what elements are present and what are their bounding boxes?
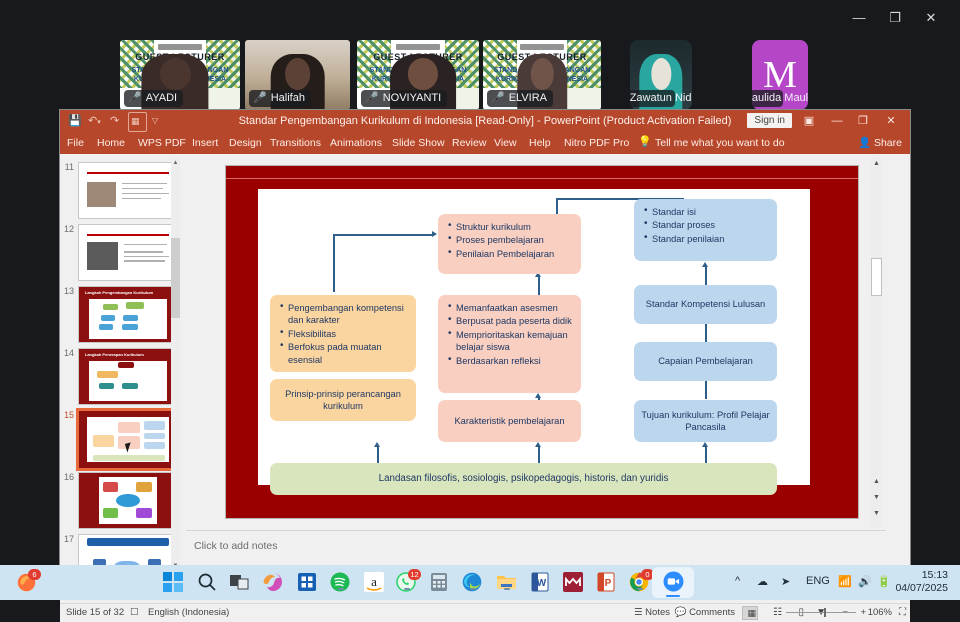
spotify-icon[interactable] bbox=[330, 572, 351, 593]
ribbon-tab-file[interactable]: File bbox=[67, 136, 84, 150]
window-close-button[interactable]: ✕ bbox=[916, 6, 946, 30]
ribbon-tab-nitro-pdf-pro[interactable]: Nitro PDF Pro bbox=[564, 136, 629, 150]
participant-name-badge: 🎤 ELVIRA bbox=[487, 90, 553, 107]
thumbnail-node bbox=[93, 435, 115, 448]
muted-microphone-icon: 🎤 bbox=[128, 91, 142, 106]
mendeley-icon[interactable] bbox=[563, 572, 584, 593]
calculator-icon[interactable] bbox=[429, 572, 450, 593]
thumbnail-text-line bbox=[124, 251, 163, 253]
thumbnail-node bbox=[118, 422, 140, 432]
powerpoint-status-bar: Slide 15 of 32 ☐ English (Indonesia) ☰ N… bbox=[60, 603, 910, 622]
lightbulb-icon: 💡 bbox=[638, 135, 652, 148]
slide-thumbnail[interactable] bbox=[78, 224, 178, 281]
accessibility-icon[interactable]: ☐ bbox=[130, 607, 139, 619]
node-struktur-kurikulum[interactable]: Struktur kurikulum Proses pembelajaran P… bbox=[438, 214, 581, 274]
comment-bubble-icon: 💬 bbox=[675, 607, 687, 618]
node-label: Karakteristik pembelajaran bbox=[454, 415, 564, 427]
institution-logo bbox=[158, 44, 202, 50]
zoom-out-button[interactable]: − bbox=[842, 606, 848, 620]
participant-name-badge: 🎤 Maulida Maulida bbox=[752, 90, 783, 107]
participant-face bbox=[531, 58, 554, 89]
participant-name-badge: 🎤 Halifah bbox=[249, 90, 311, 107]
onedrive-icon[interactable]: ☁ bbox=[757, 575, 768, 588]
volume-icon[interactable]: 🔊 bbox=[858, 575, 872, 588]
language-indicator[interactable]: ENG bbox=[806, 575, 830, 587]
thumbnail-row[interactable]: 15 bbox=[60, 408, 182, 469]
share-label: Share bbox=[874, 137, 902, 149]
node-bullet: Penilaian Pembelajaran bbox=[456, 248, 573, 260]
participant-face bbox=[408, 58, 438, 89]
connector-arrow bbox=[705, 447, 707, 463]
node-pengembangan-kompetensi[interactable]: Pengembangan kompetensi dan karakter Fle… bbox=[270, 295, 416, 372]
powerpoint-close-button[interactable]: ✕ bbox=[878, 112, 904, 130]
thumbnail-title: Langkah Pengembangan Kurikulum bbox=[85, 290, 153, 295]
connector-arrow bbox=[377, 447, 379, 463]
muted-microphone-icon: 🎤 bbox=[253, 91, 267, 106]
window-minimize-button[interactable]: — bbox=[844, 6, 874, 30]
scroll-up-arrow-icon[interactable]: ▲ bbox=[871, 158, 882, 170]
thumbnail-number: 12 bbox=[62, 224, 74, 234]
language-indicator[interactable]: English (Indonesia) bbox=[148, 607, 229, 619]
notification-badge: 6 bbox=[28, 569, 41, 580]
participant-name: Zawatun Nida bbox=[630, 91, 692, 106]
thumbnail-accent-bar bbox=[87, 172, 169, 174]
thumbnail-scrollbar-thumb[interactable] bbox=[171, 238, 180, 318]
thumbnail-text-line bbox=[122, 188, 163, 190]
thumbnail-row[interactable]: 13 Langkah Pengembangan Kurikulum bbox=[60, 284, 182, 345]
next-slide-icon[interactable]: ▼ bbox=[871, 492, 882, 504]
participant-tile[interactable]: M 🎤 Maulida Maulida bbox=[752, 40, 808, 110]
wifi-icon[interactable]: 📶 bbox=[838, 575, 852, 588]
svg-text:a: a bbox=[371, 574, 377, 589]
slide-thumbnail[interactable] bbox=[78, 472, 178, 529]
zoom-app-button[interactable] bbox=[652, 567, 694, 598]
connector-arrow bbox=[333, 234, 335, 292]
powerpoint-title-bar: 💾 ↶▾ ↷ ▦ ▽ Standar Pengembangan Kurikulu… bbox=[60, 110, 910, 132]
comments-label: Comments bbox=[689, 607, 735, 618]
institution-logo bbox=[396, 44, 440, 50]
notes-icon: ☰ bbox=[634, 607, 643, 618]
institution-logo bbox=[520, 44, 564, 50]
running-indicator bbox=[470, 588, 476, 590]
thumbnail-photo bbox=[87, 182, 116, 207]
thumbnail-text-line bbox=[124, 244, 167, 246]
zoom-title-bar: — ❐ ✕ bbox=[0, 0, 960, 36]
amazon-icon[interactable]: a bbox=[364, 572, 385, 593]
slide-editing-area: Standar isi Standar proses Standar penil… bbox=[186, 156, 886, 526]
connector-arrow bbox=[705, 381, 707, 399]
ribbon-display-options-button[interactable]: ▣ bbox=[796, 112, 822, 130]
copilot-icon[interactable] bbox=[263, 572, 284, 593]
participant-tile[interactable]: GUEST LECTURER STANDAR PENGEMBANGAN KURI… bbox=[357, 40, 479, 110]
connector-arrow bbox=[705, 324, 707, 342]
slide-sorter-button[interactable]: ☷ bbox=[773, 606, 782, 620]
connector-arrow bbox=[538, 277, 540, 295]
muted-microphone-icon: 🎤 bbox=[365, 91, 379, 106]
thumbnail-number: 14 bbox=[62, 348, 74, 358]
thumbnail-node bbox=[136, 482, 152, 492]
slide-content-canvas: Standar isi Standar proses Standar penil… bbox=[258, 189, 810, 485]
slide-scrollbar[interactable]: ▲ ▲ ▼ ▼ bbox=[871, 158, 882, 528]
powerpoint-minimize-button[interactable]: — bbox=[824, 112, 850, 130]
slide-scrollbar-thumb[interactable] bbox=[871, 258, 882, 296]
ribbon-tab-transitions[interactable]: Transitions bbox=[270, 136, 321, 150]
connector-arrow bbox=[333, 234, 433, 236]
share-button[interactable]: 👤 Share bbox=[858, 136, 902, 150]
scroll-up-arrow-icon[interactable]: ▲ bbox=[171, 158, 180, 169]
node-bullet: Memprioritaskan kemajuan belajar siswa bbox=[456, 329, 573, 354]
thumbnail-node bbox=[103, 482, 119, 492]
arrowhead-icon bbox=[535, 393, 541, 398]
participant-name: Halifah bbox=[271, 91, 305, 106]
zoom-level[interactable]: 106% bbox=[868, 607, 892, 619]
participant-name: NOVIYANTI bbox=[383, 91, 441, 106]
thumbnail-node bbox=[144, 433, 166, 440]
ribbon-tab-insert[interactable]: Insert bbox=[192, 136, 218, 150]
connector-arrow bbox=[538, 447, 540, 463]
arrowhead-icon bbox=[535, 442, 541, 447]
participant-tile[interactable]: 🎤 Zawatun Nida bbox=[630, 40, 692, 110]
thumbnail-node bbox=[103, 304, 119, 311]
participant-name: ELVIRA bbox=[509, 91, 547, 106]
normal-view-icon: ▦ bbox=[747, 606, 756, 620]
running-indicator bbox=[338, 588, 344, 590]
node-label: Tujuan kurikulum: Profil Pelajar Pancasi… bbox=[640, 409, 771, 434]
thumbnail-text-line bbox=[124, 256, 169, 258]
reading-view-button[interactable]: ▯ bbox=[798, 606, 804, 620]
firefox-icon[interactable]: 6 bbox=[16, 572, 37, 593]
ribbon-tab-home[interactable]: Home bbox=[97, 136, 125, 150]
slide-counter[interactable]: Slide 15 of 32 bbox=[66, 607, 124, 619]
muted-microphone-icon: 🎤 bbox=[491, 91, 505, 106]
running-indicator bbox=[504, 588, 510, 590]
thumbnail-text-line bbox=[122, 198, 161, 200]
thumbnail-text-line bbox=[122, 193, 169, 195]
arrowhead-icon bbox=[374, 442, 380, 447]
arrowhead-icon bbox=[702, 442, 708, 447]
window-maximize-button[interactable]: ❐ bbox=[880, 6, 910, 30]
node-landasan[interactable]: Landasan filosofis, sosiologis, psikoped… bbox=[270, 463, 777, 495]
file-explorer-icon[interactable] bbox=[496, 572, 517, 593]
arrowhead-icon bbox=[702, 262, 708, 267]
thumbnail-row[interactable]: 14 Langkah Penerapan Kurikulum bbox=[60, 346, 182, 407]
participant-face bbox=[160, 58, 191, 89]
notes-button[interactable]: ☰ Notes bbox=[634, 606, 670, 620]
node-bullet: Berdasarkan refleksi bbox=[456, 355, 573, 367]
node-tujuan-kurikulum[interactable]: Tujuan kurikulum: Profil Pelajar Pancasi… bbox=[634, 400, 777, 442]
thumbnail-number: 17 bbox=[62, 534, 74, 544]
powerpoint-window: 💾 ↶▾ ↷ ▦ ▽ Standar Pengembangan Kurikulu… bbox=[60, 110, 910, 566]
node-standar-kompetensi-lulusan[interactable]: Standar Kompetensi Lulusan bbox=[634, 285, 777, 324]
sign-in-button[interactable]: Sign in bbox=[747, 113, 792, 128]
task-view-icon[interactable] bbox=[229, 572, 250, 593]
participant-filmstrip: GUEST LECTURER STANDAR PENGEMBANGAN KURI… bbox=[0, 40, 960, 112]
thumbnail-node bbox=[97, 371, 119, 378]
thumbnail-node bbox=[93, 455, 166, 461]
comments-button[interactable]: 💬 Comments bbox=[675, 606, 735, 620]
svg-text:P: P bbox=[605, 578, 612, 589]
ribbon-tab-slide-show[interactable]: Slide Show bbox=[392, 136, 445, 150]
show-hidden-icons-button[interactable]: ^ bbox=[735, 575, 740, 587]
node-bullet: Standar isi bbox=[652, 206, 769, 218]
thumbnail-node bbox=[116, 494, 140, 507]
node-label: Prinsip-prinsip perancangan kurikulum bbox=[276, 388, 410, 413]
whatsapp-icon[interactable]: 12 bbox=[396, 572, 417, 593]
microsoft-store-icon[interactable] bbox=[297, 572, 318, 593]
slide-thumbnail-pane[interactable]: 11 12 bbox=[60, 156, 182, 597]
slide-thumbnail-selected[interactable] bbox=[76, 408, 180, 471]
fit-to-window-button[interactable]: ⛶ bbox=[899, 606, 906, 620]
thumbnail-node bbox=[99, 324, 114, 330]
thumbnail-row[interactable]: 16 bbox=[60, 470, 182, 531]
participant-name-badge: 🎤 Zawatun Nida bbox=[630, 90, 675, 107]
thumbnail-node bbox=[101, 315, 116, 321]
thumbnail-node bbox=[144, 421, 166, 430]
thumbnail-scrollbar[interactable]: ▲ ▼ bbox=[171, 158, 180, 572]
svg-text:W: W bbox=[537, 578, 547, 589]
thumbnail-row[interactable]: 12 bbox=[60, 222, 182, 283]
scroll-down-arrow-icon[interactable]: ▼ bbox=[871, 508, 882, 520]
ribbon-tab-review[interactable]: Review bbox=[452, 136, 486, 150]
connector-arrow bbox=[705, 267, 707, 285]
node-bullet: Pengembangan kompetensi dan karakter bbox=[288, 302, 408, 327]
node-bullet: Standar penilaian bbox=[652, 233, 769, 245]
node-label: Capaian Pembelajaran bbox=[658, 355, 753, 367]
thumbnail-title: Langkah Penerapan Kurikulum bbox=[85, 352, 144, 357]
slide-thumbnail[interactable]: Langkah Pengembangan Kurikulum bbox=[78, 286, 178, 343]
arrowhead-icon bbox=[432, 231, 437, 237]
node-label: Standar Kompetensi Lulusan bbox=[646, 298, 765, 310]
thumbnail-number: 13 bbox=[62, 286, 74, 296]
thumbnail-node bbox=[136, 508, 152, 518]
participant-tile[interactable]: GUEST LECTURER STANDAR PENGEMBANGAN KURI… bbox=[483, 40, 601, 110]
thumbnail-node bbox=[118, 362, 134, 368]
previous-slide-icon[interactable]: ▲ bbox=[871, 476, 882, 488]
thumbnail-node bbox=[122, 383, 138, 389]
thumbnail-number: 16 bbox=[62, 472, 74, 482]
edge-icon[interactable] bbox=[462, 572, 483, 593]
participant-name-badge: 🎤 AYADI bbox=[124, 90, 183, 107]
zoom-icon bbox=[663, 571, 684, 592]
chrome-icon[interactable]: 0 bbox=[629, 572, 650, 593]
node-bullet: Memanfaatkan asesmen bbox=[456, 302, 573, 314]
taskbar-clock-time[interactable]: 15:13 bbox=[878, 569, 948, 581]
slide-thumbnail[interactable] bbox=[78, 162, 178, 219]
node-bullet: Standar proses bbox=[652, 219, 769, 231]
participant-name: AYADI bbox=[146, 91, 177, 106]
thumbnail-photo bbox=[87, 242, 118, 271]
zoom-slider-knob[interactable] bbox=[824, 608, 826, 617]
thumbnail-node bbox=[144, 442, 166, 449]
node-label: Landasan filosofis, sosiologis, psikoped… bbox=[379, 473, 669, 485]
node-bullet: Berpusat pada peserta didik bbox=[456, 315, 573, 327]
running-indicator bbox=[404, 588, 410, 590]
node-bullet: Fleksibilitas bbox=[288, 328, 408, 340]
windows-start-icon[interactable] bbox=[163, 572, 184, 593]
word-icon[interactable]: W bbox=[530, 572, 551, 593]
slide-thumbnail[interactable]: Langkah Penerapan Kurikulum bbox=[78, 348, 178, 405]
thumbnail-node bbox=[123, 315, 138, 321]
powerpoint-workspace: 11 12 bbox=[60, 154, 910, 622]
thumbnail-accent-bar bbox=[87, 234, 169, 236]
notification-badge: 12 bbox=[408, 569, 421, 580]
thumbnail-node bbox=[126, 302, 144, 309]
zoom-slider-track[interactable] bbox=[786, 612, 856, 613]
thumbnail-node bbox=[103, 508, 119, 518]
ribbon-tab-wps-pdf[interactable]: WPS PDF bbox=[138, 136, 186, 150]
participant-face bbox=[651, 58, 671, 89]
share-person-icon: 👤 bbox=[858, 137, 871, 149]
ribbon-tab-help[interactable]: Help bbox=[529, 136, 551, 150]
powerpoint-icon[interactable]: P bbox=[596, 572, 617, 593]
thumbnail-row[interactable]: 11 bbox=[60, 160, 182, 221]
thumbnail-text-line bbox=[124, 260, 165, 262]
zoom-in-button[interactable]: + bbox=[860, 606, 866, 620]
location-icon[interactable]: ➤ bbox=[781, 575, 790, 588]
ribbon-tab-view[interactable]: View bbox=[494, 136, 517, 150]
participant-tile[interactable]: 🎤 Halifah bbox=[245, 40, 350, 110]
thumbnail-header-bar bbox=[87, 538, 169, 546]
participant-face bbox=[285, 58, 310, 89]
running-indicator bbox=[666, 595, 680, 598]
participant-name: Maulida Maulida bbox=[752, 91, 808, 106]
participant-name-badge: 🎤 NOVIYANTI bbox=[361, 90, 447, 107]
thumbnail-number: 15 bbox=[62, 410, 74, 420]
node-karakteristik-pembelajaran[interactable]: Karakteristik pembelajaran bbox=[438, 400, 581, 442]
node-bullet: Struktur kurikulum bbox=[456, 221, 573, 233]
ribbon-tab-animations[interactable]: Animations bbox=[330, 136, 382, 150]
ribbon-tab-design[interactable]: Design bbox=[229, 136, 262, 150]
notes-placeholder: Click to add notes bbox=[194, 540, 277, 552]
thumbnail-node bbox=[122, 324, 138, 330]
participant-tile[interactable]: GUEST LECTURER STANDAR PENGEMBANGAN KURI… bbox=[120, 40, 240, 110]
node-capaian-pembelajaran[interactable]: Capaian Pembelajaran bbox=[634, 342, 777, 381]
node-bullet: Berfokus pada muatan esensial bbox=[288, 341, 408, 366]
running-indicator bbox=[637, 588, 643, 590]
slide-divider-line bbox=[226, 178, 858, 179]
search-icon[interactable] bbox=[197, 572, 218, 593]
tell-me-search[interactable]: Tell me what you want to do bbox=[655, 136, 785, 150]
thumbnail-number: 11 bbox=[62, 162, 74, 172]
notes-label: Notes bbox=[645, 607, 670, 618]
node-bullet: Proses pembelajaran bbox=[456, 234, 573, 246]
thumbnail-node bbox=[99, 383, 115, 389]
thumbnail-text-line bbox=[122, 183, 167, 185]
taskbar-clock-date[interactable]: 04/07/2025 bbox=[878, 582, 948, 594]
node-prinsip-perancangan-kurikulum[interactable]: Prinsip-prinsip perancangan kurikulum bbox=[270, 379, 416, 421]
node-standar-isi[interactable]: Standar isi Standar proses Standar penil… bbox=[634, 199, 777, 261]
ribbon-tab-bar: File Home WPS PDF Insert Design Transiti… bbox=[60, 132, 910, 154]
current-slide[interactable]: Standar isi Standar proses Standar penil… bbox=[226, 166, 858, 518]
windows-taskbar: 6 a 12 W P bbox=[0, 565, 960, 600]
powerpoint-restore-button[interactable]: ❐ bbox=[850, 112, 876, 130]
node-memanfaatkan-asesmen[interactable]: Memanfaatkan asesmen Berpusat pada peser… bbox=[438, 295, 581, 393]
zoom-meeting-window: — ❐ ✕ GUEST LECTURER STANDAR PENGEMBANGA… bbox=[0, 0, 960, 600]
